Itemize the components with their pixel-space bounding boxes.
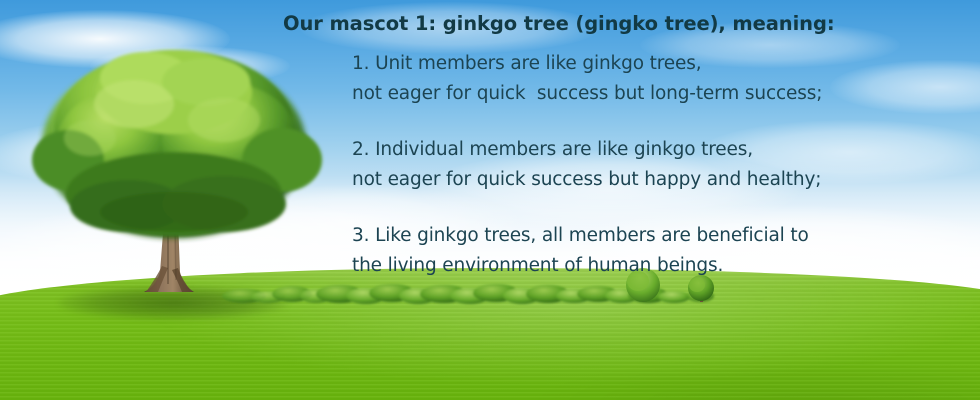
page-title: Our mascot 1: ginkgo tree (gingko tree),… bbox=[283, 12, 835, 35]
meaning-paragraph-2: 2. Individual members are like ginkgo tr… bbox=[352, 135, 821, 195]
meaning-paragraph-1: 1. Unit members are like ginkgo trees, n… bbox=[352, 49, 822, 109]
meaning-paragraph-3: 3. Like ginkgo trees, all members are be… bbox=[352, 221, 809, 281]
ginkgo-tree-banner: Our mascot 1: ginkgo tree (gingko tree),… bbox=[0, 0, 980, 400]
text-overlay: Our mascot 1: ginkgo tree (gingko tree),… bbox=[0, 0, 980, 400]
